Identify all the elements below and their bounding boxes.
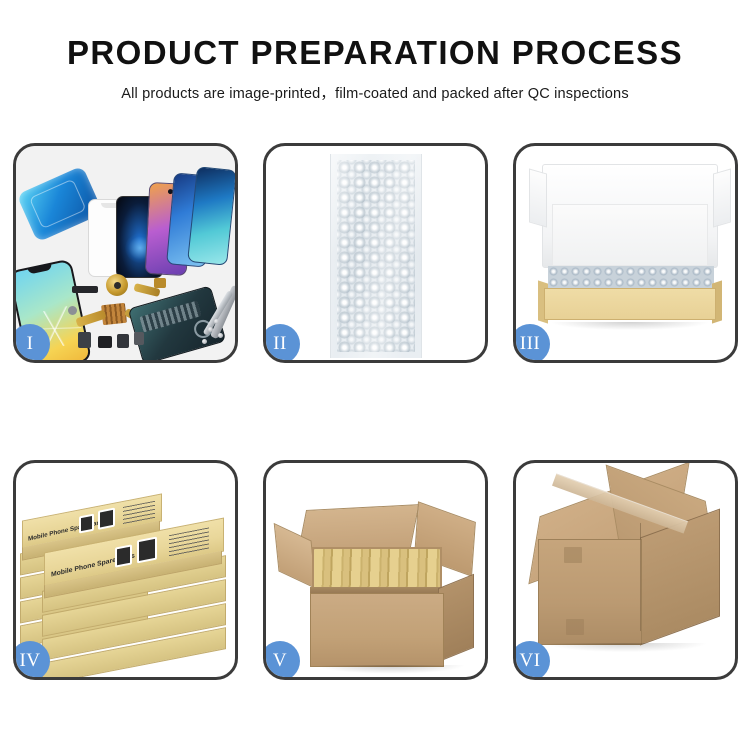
page-subtitle: All products are image-printed，film-coat… (0, 82, 750, 103)
box-screen-image-2 (98, 508, 115, 530)
step-2-image (266, 146, 485, 360)
process-step-panel-5[interactable]: V (263, 460, 488, 680)
screw-icon-2 (218, 333, 223, 338)
step-badge-5: V (263, 641, 300, 680)
box-screen-image-4 (137, 537, 157, 564)
step-6-image (516, 463, 735, 677)
page-title: PRODUCT PREPARATION PROCESS (0, 34, 750, 72)
step-badge-4: IV (13, 641, 50, 680)
box-screen-image-3 (115, 544, 132, 567)
process-step-panel-3[interactable]: III (513, 143, 738, 363)
carton-drop-shadow (316, 665, 466, 674)
box-screen-image-1 (79, 514, 94, 534)
small-part-icon-5 (68, 306, 77, 315)
bubble-wrap-pouch-icon (330, 154, 422, 358)
small-part-icon-3 (117, 334, 129, 348)
step-badge-3: III (513, 324, 550, 363)
step-badge-6: VI (513, 641, 550, 680)
foam-sheet-icon (552, 204, 708, 266)
sealed-carton-front-face (538, 539, 642, 645)
process-step-panel-4[interactable]: Mobile Phone Spare Parts Mobile Phone Sp… (13, 460, 238, 680)
step-3-image (516, 146, 735, 360)
process-step-grid: I II III (13, 143, 738, 680)
sealed-carton-drop-shadow (546, 643, 706, 652)
kraft-box-stack: Mobile Phone Spare Parts Mobile Phone Sp… (16, 463, 235, 677)
box-front-face (544, 288, 716, 320)
packed-kraft-boxes-icon (314, 549, 440, 589)
screw-icon-1 (208, 327, 213, 332)
page-header: PRODUCT PREPARATION PROCESS All products… (0, 0, 750, 103)
step-4-image: Mobile Phone Spare Parts Mobile Phone Sp… (16, 463, 235, 677)
small-part-icon-2 (98, 336, 112, 348)
small-part-icon-1 (78, 332, 91, 348)
black-bar-part-icon (72, 286, 98, 293)
process-step-panel-2[interactable]: II (263, 143, 488, 363)
step-1-image (16, 146, 235, 360)
small-part-icon-6 (154, 278, 166, 288)
carton-hand-hole-2 (566, 619, 584, 635)
carton-hand-hole-1 (564, 547, 582, 563)
plastic-sheen-overlay (331, 154, 421, 358)
step-badge-2: II (263, 324, 300, 363)
step-badge-1: I (13, 324, 50, 363)
box-drop-shadow (552, 322, 708, 330)
process-step-panel-6[interactable]: VI (513, 460, 738, 680)
screw-icon-3 (202, 339, 207, 344)
carton-front-face (310, 593, 444, 667)
box-spec-lines-front (169, 527, 209, 557)
step-5-image (266, 463, 485, 677)
box-spec-lines-rear (123, 501, 155, 525)
sealed-carton-edge-seam (640, 523, 641, 631)
screw-icon-4 (214, 319, 219, 324)
coil-part-icon (106, 274, 128, 296)
bubble-wrapped-contents-icon (548, 266, 714, 290)
small-part-icon-4 (134, 332, 144, 345)
process-step-panel-1[interactable]: I (13, 143, 238, 363)
